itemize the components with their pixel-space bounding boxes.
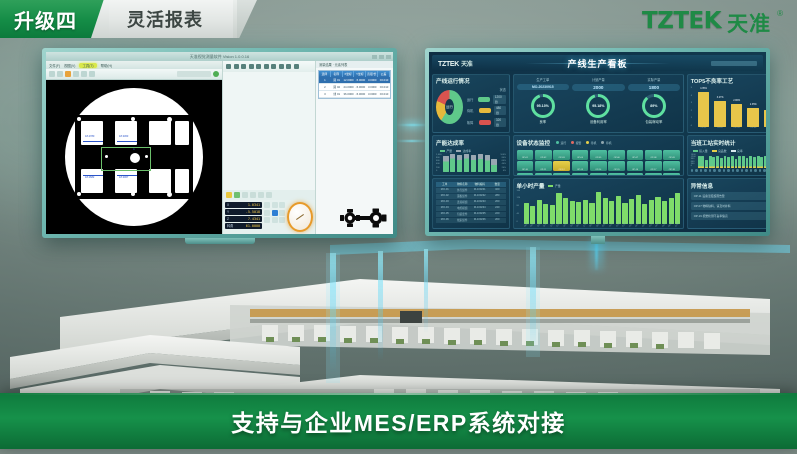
vision-software-monitor: 天准视觉测量软件 Vision 1.0.0.16 文件(F) 视图(V) 工具(… <box>42 48 397 238</box>
settings-icon[interactable] <box>266 192 272 198</box>
cell-select: 2 <box>319 84 331 90</box>
rect-tool-icon[interactable] <box>264 64 269 69</box>
capacity-chart: 1,0008006004002000 100%80%60%40%20%0% <box>436 154 506 173</box>
gauge-label: 设备利用率 <box>590 119 607 124</box>
alert-text: OP-07 物料缺料，请及时补料 <box>694 204 766 208</box>
table-row[interactable]: 1 圆 01 12.0000 -5.0000 3.0000 ±0.010 <box>319 77 390 84</box>
device-tile[interactable]: OP-04 <box>572 150 589 160</box>
tab-upgrade-four-label: 升级四 <box>14 5 77 34</box>
top5-bars: 4.35% 3.27% 2.86% <box>691 87 766 127</box>
legend-value: 1200台 <box>493 95 506 104</box>
dashboard-logo-latin: TZTEK <box>438 61 459 68</box>
axis-readout-panel: X 1.0341 Y -5.5018 Z 7.4341 <box>223 200 315 234</box>
menu-item-help[interactable]: 帮助(H) <box>101 63 113 68</box>
cell-y: -5.0000 <box>354 77 366 83</box>
jog-down-left-icon[interactable] <box>264 217 270 223</box>
gauge-value: 89% <box>650 104 657 108</box>
cell-select: 1 <box>319 77 331 83</box>
alert-item[interactable]: OP-19 视觉检测不良率偏高 <box>691 212 766 220</box>
arc-tool-icon[interactable] <box>249 64 254 69</box>
hourly-bars <box>517 190 681 224</box>
axis-row-rotation: 转角 61.0000 <box>225 223 262 229</box>
axis-y-value: -5.5018 <box>246 210 260 214</box>
card-capacity-title: 产能达成率 <box>436 139 506 147</box>
dashboard-logo-cjk: 天准 <box>461 62 472 68</box>
legend-swatch <box>479 120 491 125</box>
kpi-planned: 计划产量 2000 <box>572 77 625 91</box>
cell-x: 12.0000 <box>343 77 355 83</box>
work-table-header: 工单 物料名称 物料编码 数量 <box>436 182 506 187</box>
legend-entry-stopped: 停机 <box>601 141 611 145</box>
axis-row-x: X 1.0341 <box>225 202 262 208</box>
device-legend: 运行 报警 待机 停机 <box>556 141 611 145</box>
device-tile[interactable]: OP-16 <box>627 161 644 171</box>
device-tile[interactable]: OP-09 <box>663 150 680 160</box>
tab-flexible-report-label: 灵活报表 <box>127 6 203 32</box>
inspected-part-silhouette: 18.2780 18.3363 18.2682 18.3067 A <box>75 115 193 199</box>
legend-value: 320台 <box>494 118 506 127</box>
legend-entry-input: 投入量 <box>693 149 708 153</box>
legend-value: 480台 <box>494 106 506 115</box>
cell-name: 圆 01 <box>331 77 343 83</box>
device-tile[interactable]: OP-18 <box>663 161 680 171</box>
right-monitor-screen: TZTEK天准 产线生产看板 产线运行情况 运行 <box>429 52 766 232</box>
menu-item-file[interactable]: 文件(F) <box>49 63 60 68</box>
kpi-label: 实际产量 <box>628 77 681 82</box>
gauge-label: 包装稼动率 <box>645 119 662 124</box>
production-dashboard-monitor: TZTEK天准 产线生产看板 产线运行情况 运行 <box>425 48 770 236</box>
bottom-banner: 支持与企业MES/ERP系统对接 <box>0 393 797 449</box>
right-monitor-stand <box>591 236 605 244</box>
angle-label: A <box>133 148 135 151</box>
cell-select: 3 <box>319 91 331 97</box>
legend-label: 运行 <box>467 97 476 102</box>
device-tile[interactable]: OP-22 <box>572 173 589 176</box>
axis-rotation-value: 61.0000 <box>246 224 260 228</box>
hourly-axis-x: 08:0009:00 10:0011:00 12:0013:00 14:0015… <box>517 224 681 226</box>
dashboard-clock <box>711 61 757 66</box>
card-hourly-title: 单小时产量 <box>517 182 545 190</box>
vision-left-pane: 文件(F) 视图(V) 工具(T) 帮助(H) <box>46 61 222 234</box>
card-alerts: 异常信息 OP-11 设备温度超限告警 OP-07 物料缺料，请及时补料 OP-… <box>687 178 766 229</box>
cell-diameter: 3.0000 <box>366 91 378 97</box>
axis-z-label: Z <box>227 217 229 221</box>
vision-body: 文件(F) 视图(V) 工具(T) 帮助(H) <box>46 61 393 234</box>
dashboard-column-left: 产线运行情况 运行 状态 运行 1200台 <box>432 74 510 230</box>
jog-down-icon[interactable] <box>272 217 278 223</box>
device-tile[interactable]: OP-12 <box>553 161 570 171</box>
legend-entry-output: 产量 <box>548 184 560 188</box>
cell-diameter: 3.0000 <box>366 84 378 90</box>
kpi-label: 生产工单 <box>517 77 570 82</box>
card-station-title: 当班工站实时统计 <box>691 139 766 147</box>
station-chart: 150012009006003000 100%80%60%40%20%0% <box>691 154 766 168</box>
hourly-chart: 16012080400 <box>517 190 681 224</box>
card-top5-defect: TOP5不良率工艺 543210 4.35% <box>687 74 766 133</box>
legend-entry-output: 产量 <box>440 149 452 153</box>
gauge-label: 良率 <box>539 119 546 124</box>
axis-x-label: X <box>227 203 229 207</box>
card-hourly-output: 单小时产量 产量 16012080400 <box>513 178 685 229</box>
cell-diameter: 3.0000 <box>366 77 378 83</box>
playback-toolbar[interactable] <box>223 190 315 200</box>
zoom-icon[interactable] <box>57 71 63 77</box>
device-tile[interactable]: OP-23 <box>590 173 607 176</box>
menu-item-view[interactable]: 视图(V) <box>64 63 75 68</box>
jog-pad[interactable] <box>264 202 285 232</box>
pin-icon[interactable] <box>89 71 95 77</box>
vision-tool-pane: X 1.0341 Y -5.5018 Z 7.4341 <box>222 61 315 234</box>
bar-label: 2.35% <box>747 103 759 106</box>
tab-upgrade-four[interactable]: 升级四 <box>0 0 103 38</box>
vision-titlebar: 天准视觉测量软件 Vision 1.0.0.16 <box>46 52 393 61</box>
cell-x: 36.0000 <box>343 91 355 97</box>
vision-results-pane: 测量结果 · 元素列表 选择 名称 X坐标 Y坐标 直径/长 公差 1 圆 <box>315 61 393 234</box>
production-dashboard: TZTEK天准 产线生产看板 产线运行情况 运行 <box>429 52 766 232</box>
brand-logo: TZTEK 天准 ® <box>642 8 783 38</box>
legend-swatch <box>479 108 491 113</box>
axis-y-label: Y <box>227 210 229 214</box>
table-row[interactable]: MO-01 外壳组件 M-100231 320 <box>436 188 506 193</box>
run-status-legend: 状态 运行 1200台 待机 480台 <box>467 87 506 127</box>
device-tile[interactable]: OP-17 <box>645 161 662 171</box>
device-tile[interactable]: OP-26 <box>645 173 662 176</box>
brand-logo-latin: TZTEK <box>642 8 721 34</box>
card-kpi: 生产工单 MO-20230915 计划产量 2000 实际产量 1800 <box>513 74 685 133</box>
station-legend: 投入量 良品数 良率 <box>693 149 766 153</box>
card-station-stats: 当班工站实时统计 投入量 良品数 良率 150012009006003000 1… <box>687 135 766 176</box>
cell-tolerance: ±0.010 <box>378 77 390 83</box>
jog-up-right-icon[interactable] <box>279 202 285 208</box>
hourly-legend: 产量 <box>548 184 560 188</box>
gauge-ring: 95.13% <box>531 94 555 118</box>
jog-up-left-icon[interactable] <box>264 202 270 208</box>
work-order-table[interactable]: 工单 物料名称 物料编码 数量 MO-01 外壳组件 M-100231 320 <box>436 182 506 223</box>
alert-text: OP-19 视觉检测不良率偏高 <box>694 214 766 218</box>
card-capacity: 产能达成率 产量 达成率 1,0008006004002000 100%80%6… <box>432 135 510 176</box>
axis-rotation-label: 转角 <box>227 223 233 228</box>
device-tile[interactable]: OP-02 <box>535 150 552 160</box>
lamp-icon[interactable] <box>226 192 232 198</box>
device-tile[interactable]: OP-10 <box>517 161 534 171</box>
dashboard-header: TZTEK天准 产线生产看板 <box>432 55 763 71</box>
kpi-value: 2000 <box>572 84 625 91</box>
card-device-monitor: 设备状态监控 运行 报警 待机 停机 OP-01 OP-02 OP-03 <box>513 135 685 176</box>
device-tile[interactable]: OP-15 <box>608 161 625 171</box>
kpi-label: 计划产量 <box>572 77 625 82</box>
table-row[interactable]: MO-02 面板组件 M-100232 280 <box>436 194 506 199</box>
open-folder-icon[interactable] <box>65 71 71 77</box>
card-alerts-title: 异常信息 <box>691 182 766 190</box>
jog-home-icon[interactable] <box>272 210 278 216</box>
point-tool-icon[interactable] <box>226 64 231 69</box>
legend-entry-idle: 待机 <box>586 141 596 145</box>
device-tile[interactable]: OP-21 <box>553 173 570 176</box>
cell-tolerance: ±0.010 <box>378 91 390 97</box>
dimension-label-2: 18.3363 <box>119 135 128 138</box>
minimize-icon[interactable] <box>372 55 377 59</box>
cell-name: 线 01 <box>331 91 343 97</box>
jog-up-icon[interactable] <box>272 202 278 208</box>
table-row[interactable]: 2 圆 02 24.0000 -5.0000 3.0000 ±0.010 <box>319 84 390 91</box>
card-run-status-title: 产线运行情况 <box>436 77 506 85</box>
device-tile[interactable]: OP-25 <box>627 173 644 176</box>
axis-z-value: 7.4341 <box>248 217 260 221</box>
gauge-packaging: 89% 包装稼动率 <box>628 94 681 125</box>
device-tile[interactable]: OP-13 <box>572 161 589 171</box>
alert-item[interactable]: OP-07 物料缺料，请及时补料 <box>691 202 766 210</box>
dimension-label-3: 18.2682 <box>85 176 94 179</box>
card-device-title: 设备状态监控 <box>517 139 551 147</box>
legend-entry-rate: 达成率 <box>456 149 471 153</box>
flag-tool-icon[interactable] <box>294 64 299 69</box>
legend-entry-yield: 良率 <box>731 149 743 153</box>
col-qty: 数量 <box>489 182 507 187</box>
alert-item[interactable]: OP-11 设备温度超限告警 <box>691 192 766 200</box>
line-tool-icon[interactable] <box>234 64 239 69</box>
gauge-value: 95.13% <box>537 104 549 108</box>
card-run-status: 产线运行情况 运行 状态 运行 1200台 <box>432 74 510 133</box>
shape-tool-palette[interactable] <box>223 61 315 72</box>
col-material-code: 物料编码 <box>471 182 489 187</box>
delete-tool-icon[interactable] <box>286 64 291 69</box>
kpi-value: MO-20230915 <box>517 84 570 90</box>
legend-header: 状态 <box>467 87 506 92</box>
gauge-ring: 95.18% <box>586 94 610 118</box>
device-tile[interactable]: OP-20 <box>535 173 552 176</box>
play-icon[interactable] <box>234 192 240 198</box>
header-tabs: 升级四 灵活报表 <box>0 0 237 38</box>
left-monitor-stand <box>185 238 255 244</box>
device-tile[interactable]: OP-19 <box>517 173 534 176</box>
dashboard-body: 产线运行情况 运行 状态 运行 1200台 <box>432 74 763 230</box>
dashboard-column-right: TOP5不良率工艺 543210 4.35% <box>687 74 766 230</box>
legend-label: 达成率 <box>463 149 471 153</box>
cursor-icon[interactable] <box>49 71 55 77</box>
cell-y: -5.0000 <box>354 84 366 90</box>
legend-entry-good: 良品数 <box>712 149 727 153</box>
kpi-gauges: 95.13% 良率 95.18% 设备利用率 <box>517 94 681 125</box>
jog-down-right-icon[interactable] <box>279 217 285 223</box>
device-tile[interactable]: OP-06 <box>608 150 625 160</box>
save-icon[interactable] <box>73 71 79 77</box>
grid-icon[interactable] <box>81 71 87 77</box>
table-row[interactable]: 3 线 01 36.0000 -5.0000 3.0000 ±0.010 <box>319 91 390 98</box>
legend-entry-alarm: 报警 <box>571 141 581 145</box>
image-canvas[interactable]: 18.2780 18.3363 18.2682 18.3067 A <box>46 80 222 234</box>
tool-parameter-area <box>223 72 315 190</box>
legend-swatch <box>478 97 490 102</box>
station-bars <box>691 154 766 168</box>
stop-icon[interactable] <box>250 192 256 198</box>
close-icon[interactable] <box>386 55 391 59</box>
legend-item-running: 运行 1200台 <box>467 95 506 104</box>
axis-row-z: Z 7.4341 <box>225 216 262 222</box>
legend-label: 产量 <box>447 149 453 153</box>
cell-y: -5.0000 <box>354 91 366 97</box>
kpi-top-row: 生产工单 MO-20230915 计划产量 2000 实际产量 1800 <box>517 77 681 91</box>
gear-assembly-illustration <box>339 208 387 228</box>
legend-label: 故障 <box>467 120 477 125</box>
window-controls[interactable] <box>372 55 391 59</box>
capacity-legend: 产量 达成率 <box>440 149 506 153</box>
axis-row-y: Y -5.5018 <box>225 209 262 215</box>
brand-logo-cjk: 天准 <box>727 8 771 38</box>
tab-flexible-report[interactable]: 灵活报表 <box>105 0 237 38</box>
legend-label: 待机 <box>467 108 477 113</box>
donut-center-label: 运行 <box>436 90 463 124</box>
jog-right-icon[interactable] <box>279 210 285 216</box>
pause-icon[interactable] <box>242 192 248 198</box>
table-row[interactable]: MO-03 连接模组 M-100233 260 <box>436 200 506 205</box>
gauge-yield: 95.13% 良率 <box>517 94 570 125</box>
legend-item-fault: 故障 320台 <box>467 118 506 127</box>
brand-logo-registered: ® <box>777 9 783 18</box>
axis-value-list: X 1.0341 Y -5.5018 Z 7.4341 <box>225 202 262 232</box>
run-status-donut: 运行 <box>436 90 463 124</box>
card-work-table: 工单 物料名称 物料编码 数量 MO-01 外壳组件 M-100231 320 <box>432 178 510 229</box>
device-tile[interactable]: OP-08 <box>645 150 662 160</box>
col-material-name: 物料名称 <box>454 182 472 187</box>
kpi-value: 1800 <box>628 84 681 91</box>
circle-tool-icon[interactable] <box>241 64 246 69</box>
gauge-utilization: 95.18% 设备利用率 <box>572 94 625 125</box>
maximize-icon[interactable] <box>379 55 384 59</box>
top5-axis-x: OP-11 OP-07 OP-19 OP-03 OP-22 <box>691 127 766 129</box>
alert-text: OP-11 设备温度超限告警 <box>694 194 766 198</box>
bar-label: 2.17% <box>764 105 766 108</box>
bottom-banner-text: 支持与企业MES/ERP系统对接 <box>231 404 566 438</box>
gauge-ring: 89% <box>642 94 666 118</box>
dimension-label-4: 18.3067 <box>119 176 128 179</box>
kpi-work-order: 生产工单 MO-20230915 <box>517 77 570 91</box>
device-tile[interactable]: OP-07 <box>627 150 644 160</box>
device-tile[interactable]: OP-27 <box>663 173 680 176</box>
device-tile[interactable]: OP-01 <box>517 150 534 160</box>
col-order: 工单 <box>436 182 454 187</box>
dashboard-column-middle: 生产工单 MO-20230915 计划产量 2000 实际产量 1800 <box>513 74 685 230</box>
results-table-title: 测量结果 · 元素列表 <box>316 61 393 68</box>
legend-item-idle: 待机 480台 <box>467 106 506 115</box>
angle-tool-icon[interactable] <box>256 64 261 69</box>
device-tile[interactable]: OP-05 <box>590 150 607 160</box>
vision-window-title: 天准视觉测量软件 Vision 1.0.0.16 <box>190 54 250 60</box>
device-tile[interactable]: OP-11 <box>535 161 552 171</box>
table-row[interactable]: MO-04 电控模组 M-100234 240 <box>436 206 506 211</box>
station-axis-pips <box>691 169 766 172</box>
bar-label: 3.27% <box>714 96 726 99</box>
dimension-label-1: 18.2780 <box>85 135 94 138</box>
capacity-bars <box>436 154 506 173</box>
jog-left-icon[interactable] <box>264 210 270 216</box>
cell-x: 24.0000 <box>343 84 355 90</box>
device-tile[interactable]: OP-24 <box>608 173 625 176</box>
run-status-chart: 运行 状态 运行 1200台 待机 <box>436 87 506 127</box>
table-row[interactable]: MO-06 线束组件 M-100236 200 <box>436 218 506 223</box>
bar-label: 4.35% <box>698 87 710 90</box>
results-table[interactable]: 选择 名称 X坐标 Y坐标 直径/长 公差 1 圆 01 12.0000 -5.… <box>318 70 391 99</box>
top5-chart: 543210 4.35% 3.27% <box>691 87 766 127</box>
kpi-actual: 实际产量 1800 <box>628 77 681 91</box>
polygon-tool-icon[interactable] <box>271 64 276 69</box>
menu-item-tools[interactable]: 工具(T) <box>79 63 96 68</box>
axis-x-value: 1.0341 <box>248 203 260 207</box>
distance-tool-icon[interactable] <box>279 64 284 69</box>
dashboard-logo: TZTEK天准 <box>438 59 472 68</box>
table-row[interactable]: MO-05 包装套件 M-100235 220 <box>436 212 506 217</box>
vision-menubar[interactable]: 文件(F) 视图(V) 工具(T) 帮助(H) <box>46 61 222 69</box>
bar-label: 2.86% <box>731 99 743 102</box>
rotary-jog-dial[interactable] <box>287 202 313 232</box>
device-tile[interactable]: OP-14 <box>590 161 607 171</box>
status-pill <box>177 71 211 77</box>
device-tile[interactable]: OP-03 <box>553 150 570 160</box>
card-top5-title: TOP5不良率工艺 <box>691 77 766 85</box>
cell-tolerance: ±0.010 <box>378 84 390 90</box>
record-icon[interactable] <box>258 192 264 198</box>
vision-toolbar[interactable] <box>46 69 222 80</box>
legend-entry-running: 运行 <box>556 141 566 145</box>
device-status-grid[interactable]: OP-01 OP-02 OP-03 OP-04 OP-05 OP-06 OP-0… <box>517 150 681 176</box>
vision-software-window: 天准视觉测量软件 Vision 1.0.0.16 文件(F) 视图(V) 工具(… <box>46 52 393 234</box>
cell-name: 圆 02 <box>331 84 343 90</box>
dashboard-title: 产线生产看板 <box>567 57 627 70</box>
gauge-value: 95.18% <box>592 104 604 108</box>
left-monitor-screen: 天准视觉测量软件 Vision 1.0.0.16 文件(F) 视图(V) 工具(… <box>46 52 393 234</box>
run-button[interactable] <box>213 71 219 77</box>
